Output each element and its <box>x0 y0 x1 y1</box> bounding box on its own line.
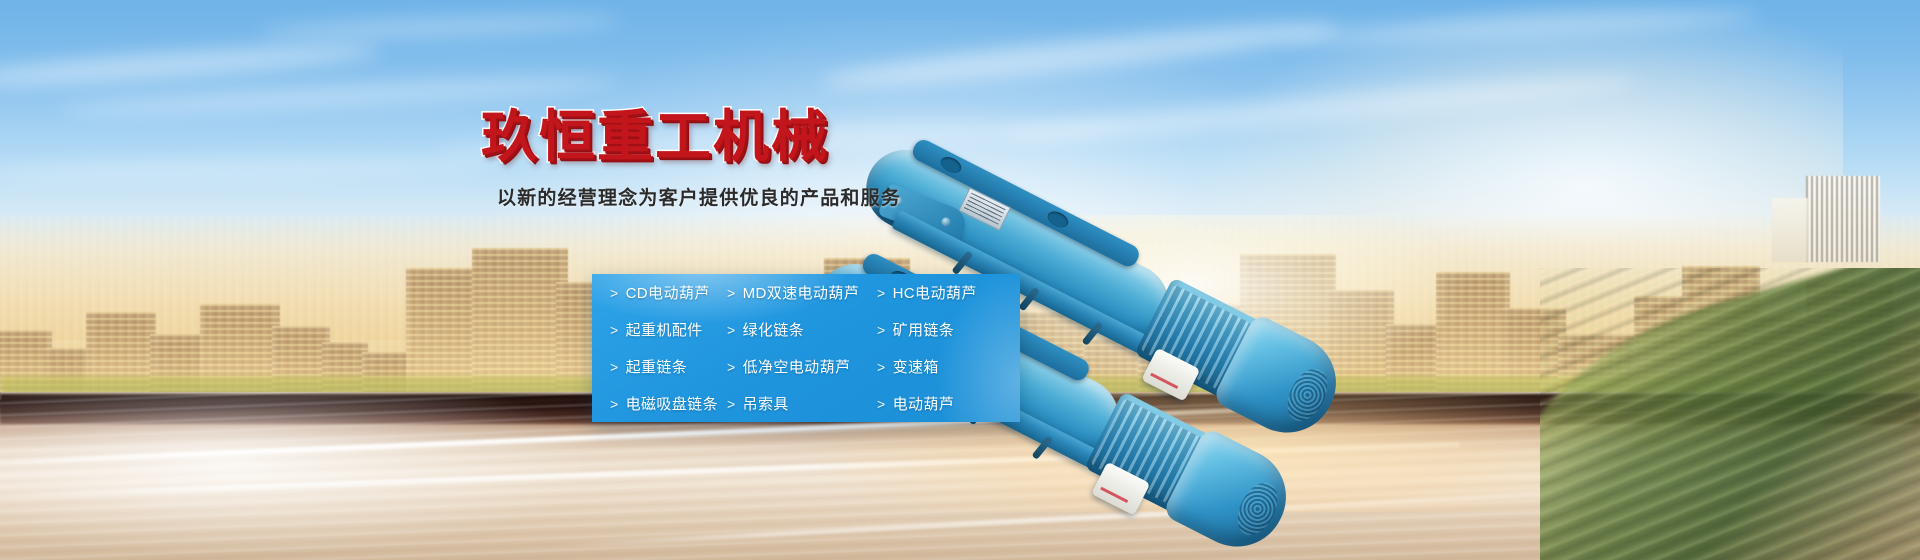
company-tagline: 以新的经营理念为客户提供优良的产品和服务 <box>497 183 1041 210</box>
product-row: > 起重机配件 > 绿化链条 > 矿用链条 <box>592 311 1020 348</box>
product-label: HC电动葫芦 <box>893 282 977 303</box>
chevron-right-icon: > <box>610 322 619 338</box>
chevron-right-icon: > <box>877 322 886 338</box>
product-label: 矿用链条 <box>893 319 955 340</box>
product-label: CD电动葫芦 <box>626 282 710 303</box>
product-row: > 电磁吸盘链条 > 吊索具 > 电动葫芦 <box>592 385 1020 422</box>
product-link-crane-parts[interactable]: > 起重机配件 <box>610 319 727 340</box>
chevron-right-icon: > <box>610 359 619 375</box>
product-links-panel: > CD电动葫芦 > MD双速电动葫芦 > HC电动葫芦 > 起重机配件 > 绿… <box>592 274 1020 422</box>
product-link-electric-hoist[interactable]: > 电动葫芦 <box>877 393 954 414</box>
product-link-lifting-chain[interactable]: > 起重链条 <box>610 356 727 377</box>
chevron-right-icon: > <box>877 285 886 301</box>
product-row: > 起重链条 > 低净空电动葫芦 > 变速箱 <box>592 348 1020 385</box>
cloud-icon <box>0 37 380 92</box>
product-link-slings[interactable]: > 吊索具 <box>727 393 877 414</box>
product-link-greening-chain[interactable]: > 绿化链条 <box>727 319 877 340</box>
product-label: 电动葫芦 <box>893 393 955 414</box>
hill-motion-blur <box>1540 268 1920 560</box>
chevron-right-icon: > <box>727 285 736 301</box>
distant-tower-building <box>1806 176 1880 262</box>
product-link-md-dual-speed-hoist[interactable]: > MD双速电动葫芦 <box>727 282 877 303</box>
company-title: 玖恒重工机械 <box>481 108 1041 167</box>
product-label: MD双速电动葫芦 <box>743 282 860 303</box>
promo-banner: 玖恒重工机械 以新的经营理念为客户提供优良的产品和服务 > CD电动葫芦 > M… <box>0 0 1920 560</box>
banner-text-block: 玖恒重工机械 以新的经营理念为客户提供优良的产品和服务 <box>481 108 1041 210</box>
hillside-vegetation <box>1540 268 1920 560</box>
product-link-mining-chain[interactable]: > 矿用链条 <box>877 319 954 340</box>
product-label: 起重链条 <box>626 356 688 377</box>
product-label: 变速箱 <box>893 356 939 377</box>
chevron-right-icon: > <box>727 396 736 412</box>
product-label: 电磁吸盘链条 <box>626 393 718 414</box>
chevron-right-icon: > <box>727 322 736 338</box>
chevron-right-icon: > <box>727 359 736 375</box>
product-label: 起重机配件 <box>626 319 703 340</box>
product-link-low-headroom-hoist[interactable]: > 低净空电动葫芦 <box>727 356 877 377</box>
cloud-icon <box>0 153 500 184</box>
product-label: 绿化链条 <box>743 319 805 340</box>
product-label: 吊索具 <box>743 393 789 414</box>
chevron-right-icon: > <box>877 359 886 375</box>
product-label: 低净空电动葫芦 <box>743 356 851 377</box>
chevron-right-icon: > <box>610 396 619 412</box>
product-link-hc-hoist[interactable]: > HC电动葫芦 <box>877 282 977 303</box>
chevron-right-icon: > <box>877 396 886 412</box>
product-link-cd-hoist[interactable]: > CD电动葫芦 <box>610 282 727 303</box>
road-light-glow <box>0 392 580 552</box>
chevron-right-icon: > <box>610 285 619 301</box>
product-row: > CD电动葫芦 > MD双速电动葫芦 > HC电动葫芦 <box>592 274 1020 311</box>
product-link-magnetic-chuck-chain[interactable]: > 电磁吸盘链条 <box>610 393 727 414</box>
product-link-gearbox[interactable]: > 变速箱 <box>877 356 939 377</box>
distant-tower-building <box>1772 198 1808 262</box>
